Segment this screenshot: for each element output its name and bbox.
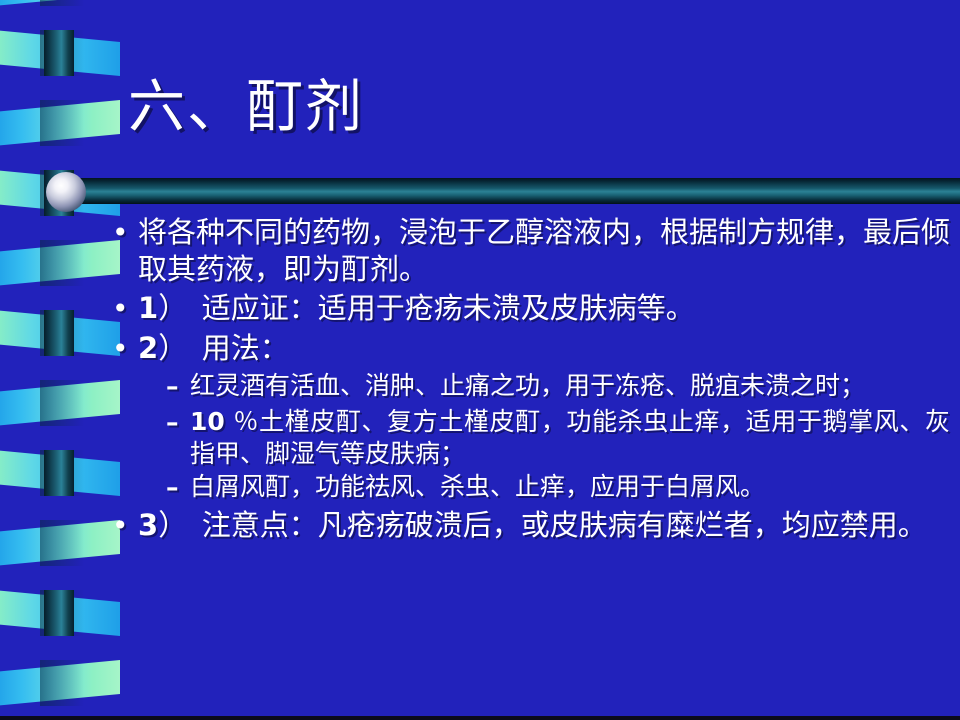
sub-list-item: – 白屑风酊，功能祛风、杀虫、止痒，应用于白屑风。	[166, 471, 950, 505]
list-item-body: ） 注意点：凡疮疡破溃后，或皮肤病有糜烂者，均应禁用。	[158, 508, 927, 542]
bullet-marker: •	[112, 507, 138, 545]
list-item-body: ） 用法：	[158, 331, 289, 365]
list-item-number: 1	[138, 291, 158, 325]
sub-list-item-body: 白屑风酊，功能祛风、杀虫、止痒，应用于白屑风。	[190, 472, 765, 501]
list-item-text: 3） 注意点：凡疮疡破溃后，或皮肤病有糜烂者，均应禁用。	[138, 507, 950, 544]
slide-body: • 将各种不同的药物，浸泡于乙醇溶液内，根据制方规律，最后倾取其药液，即为酊剂。…	[112, 214, 950, 547]
bullet-marker: •	[112, 330, 138, 368]
list-item: • 3） 注意点：凡疮疡破溃后，或皮肤病有糜烂者，均应禁用。	[112, 507, 950, 545]
sub-list-item: – 10 ％土槿皮酊、复方土槿皮酊，功能杀虫止痒，适用于鹅掌风、灰指甲、脚湿气等…	[166, 406, 950, 469]
list-item-body: 将各种不同的药物，浸泡于乙醇溶液内，根据制方规律，最后倾取其药液，即为酊剂。	[138, 215, 950, 286]
vertical-pole-decoration	[44, 0, 74, 720]
bottom-border	[0, 716, 960, 720]
dash-bullet-marker: –	[166, 406, 190, 440]
list-item-text: 1） 适应证：适用于疮疡未溃及皮肤病等。	[138, 290, 950, 327]
sub-list-item-body: 红灵酒有活血、消肿、止痛之功，用于冻疮、脱疽未溃之时；	[190, 371, 865, 400]
slide-title: 六、酊剂	[128, 78, 828, 138]
presentation-slide: 六、酊剂 • 将各种不同的药物，浸泡于乙醇溶液内，根据制方规律，最后倾取其药液，…	[0, 0, 960, 720]
list-item: • 将各种不同的药物，浸泡于乙醇溶液内，根据制方规律，最后倾取其药液，即为酊剂。	[112, 214, 950, 288]
sub-list-item: – 红灵酒有活血、消肿、止痛之功，用于冻疮、脱疽未溃之时；	[166, 370, 950, 404]
horizontal-divider-bar	[72, 178, 960, 204]
sub-list-item-body: ％土槿皮酊、复方土槿皮酊，功能杀虫止痒，适用于鹅掌风、灰指甲、脚湿气等皮肤病；	[190, 407, 950, 468]
list-item: • 1） 适应证：适用于疮疡未溃及皮肤病等。	[112, 290, 950, 328]
sub-list-item-text: 白屑风酊，功能祛风、杀虫、止痒，应用于白屑风。	[190, 471, 950, 503]
list-item-number: 3	[138, 508, 158, 542]
dash-bullet-marker: –	[166, 471, 190, 505]
sub-list-item-text: 10 ％土槿皮酊、复方土槿皮酊，功能杀虫止痒，适用于鹅掌风、灰指甲、脚湿气等皮肤…	[190, 406, 950, 469]
sub-list-item-number: 10	[190, 407, 225, 436]
dash-bullet-marker: –	[166, 370, 190, 404]
list-item-text: 2） 用法：	[138, 330, 950, 367]
list-item-number: 2	[138, 331, 158, 365]
list-item-body: ） 适应证：适用于疮疡未溃及皮肤病等。	[158, 291, 695, 325]
sub-list: – 红灵酒有活血、消肿、止痛之功，用于冻疮、脱疽未溃之时； – 10 ％土槿皮酊…	[166, 370, 950, 505]
bullet-marker: •	[112, 214, 138, 252]
list-item-text: 将各种不同的药物，浸泡于乙醇溶液内，根据制方规律，最后倾取其药液，即为酊剂。	[138, 214, 950, 288]
list-item: • 2） 用法：	[112, 330, 950, 368]
sub-list-item-text: 红灵酒有活血、消肿、止痛之功，用于冻疮、脱疽未溃之时；	[190, 370, 950, 402]
bullet-marker: •	[112, 290, 138, 328]
glowing-sphere-icon	[46, 172, 86, 212]
